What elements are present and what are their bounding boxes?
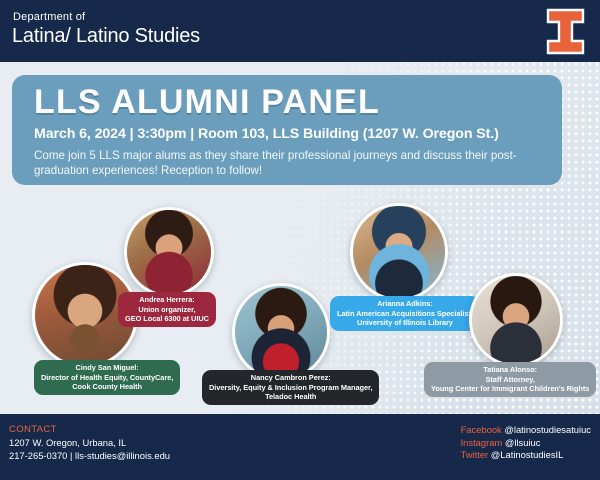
social-row-twitter[interactable]: Twitter @LatinostudiesIL [461, 449, 591, 462]
panelist-title-line1: Union organizer, [125, 305, 209, 315]
contact-address: 1207 W. Oregon, Urbana, IL [9, 437, 126, 448]
footer-bar: CONTACT 1207 W. Oregon, Urbana, IL 217-2… [0, 414, 600, 480]
panelist-caption-cindy-san-miguel: Cindy San Miguel: Director of Health Equ… [34, 360, 180, 395]
panelist-name: Nancy Cambron Perez: [209, 373, 372, 383]
contact-heading: CONTACT [9, 424, 57, 435]
event-title: LLS ALUMNI PANEL [34, 83, 380, 122]
panelist-caption-arianna-adkins: Arianna Adkins: Latin American Acquisiti… [330, 296, 480, 331]
panelist-caption-nancy-cambron-perez: Nancy Cambron Perez: Diversity, Equity &… [202, 370, 379, 405]
panelist-title-line2: GEO Local 6300 at UIUC [125, 314, 209, 324]
social-network-label: Twitter [461, 449, 489, 460]
panelist-name: Arianna Adkins: [337, 299, 473, 309]
panelist-name: Tatiana Alonso: [431, 365, 589, 375]
social-row-facebook[interactable]: Facebook @latinostudiesatuiuc [461, 424, 591, 437]
social-handle: @latinostudiesatuiuc [504, 424, 591, 435]
header-bar: Department of Latina/ Latino Studies [0, 0, 600, 62]
social-links: Facebook @latinostudiesatuiuc Instagram … [461, 424, 591, 462]
panelist-name: Cindy San Miguel: [41, 363, 173, 373]
panelist-title-line2: Cook County Health [41, 382, 173, 392]
event-description: Come join 5 LLS major alums as they shar… [34, 148, 539, 178]
department-prefix: Department of [13, 11, 85, 23]
panelist-title-line1: Diversity, Equity & Inclusion Program Ma… [209, 383, 372, 393]
social-row-instagram[interactable]: Instagram @llsuiuc [461, 437, 591, 450]
panelist-caption-andrea-herrera: Andrea Herrera: Union organizer, GEO Loc… [118, 292, 216, 327]
panelist-title-line1: Staff Attorney, [431, 375, 589, 385]
contact-phone-email: 217-265-0370 | lls-studies@illinois.edu [9, 450, 170, 461]
event-banner: LLS ALUMNI PANEL March 6, 2024 | 3:30pm … [12, 75, 562, 185]
panelist-photo-tatiana-alonso [469, 273, 563, 367]
panelist-photo-andrea-herrera [124, 207, 214, 297]
panelist-title-line2: Teladoc Health [209, 392, 372, 402]
panelist-title-line1: Director of Health Equity, CountyCare, [41, 373, 173, 383]
social-handle: @llsuiuc [505, 437, 541, 448]
panelist-title-line2: Young Center for Immigrant Children's Ri… [431, 384, 589, 394]
illinois-block-i-icon [545, 8, 586, 55]
event-details: March 6, 2024 | 3:30pm | Room 103, LLS B… [34, 126, 499, 142]
social-network-label: Instagram [461, 437, 503, 448]
department-name: Latina/ Latino Studies [12, 25, 200, 48]
panelist-title-line1: Latin American Acquisitions Specialist, [337, 309, 473, 319]
social-handle: @LatinostudiesIL [491, 449, 564, 460]
panelist-caption-tatiana-alonso: Tatiana Alonso: Staff Attorney, Young Ce… [424, 362, 596, 397]
social-network-label: Facebook [461, 424, 502, 435]
panelist-photo-nancy-cambron-perez [232, 283, 330, 381]
panelist-photo-arianna-adkins [350, 203, 448, 301]
poster-root: Department of Latina/ Latino Studies LLS… [0, 0, 600, 480]
panelist-name: Andrea Herrera: [125, 295, 209, 305]
panelist-title-line2: University of Illinois Library [337, 318, 473, 328]
